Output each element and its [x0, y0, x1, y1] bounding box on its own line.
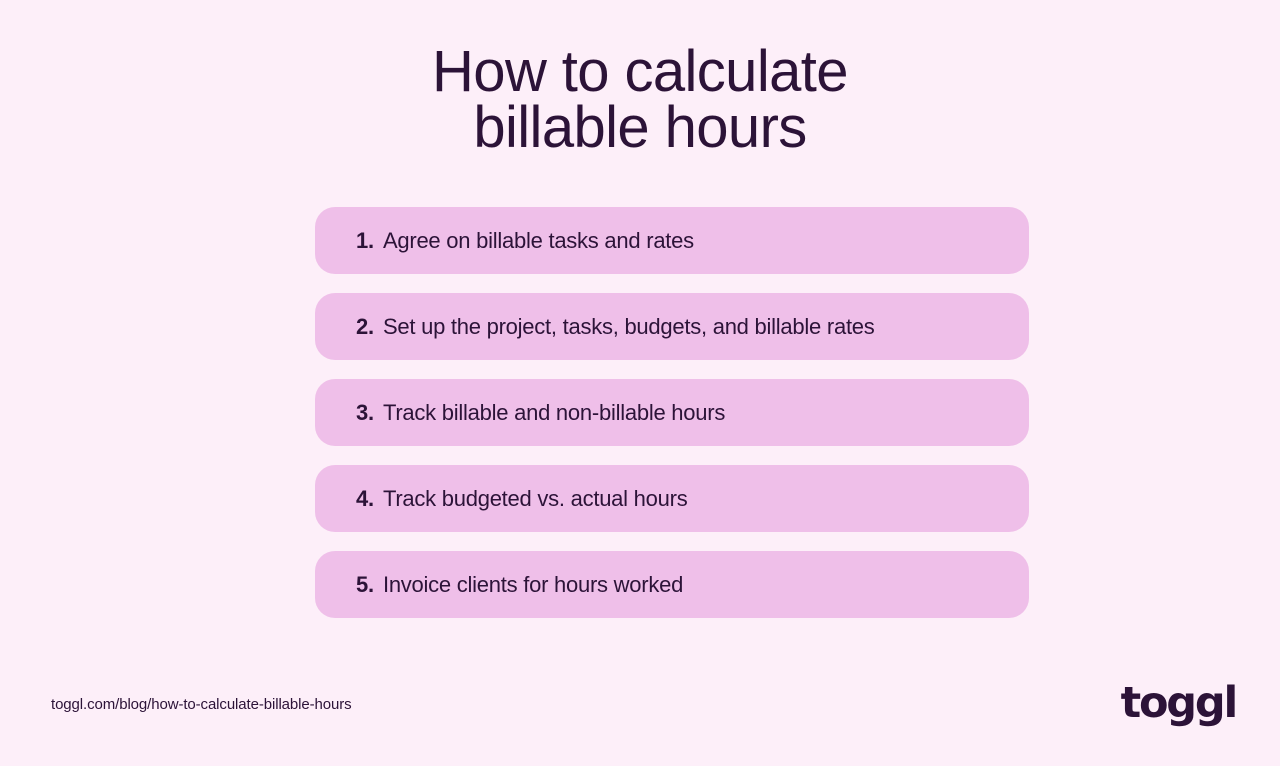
step-label: Track billable and non-billable hours [383, 400, 1005, 426]
step-item-2: 2. Set up the project, tasks, budgets, a… [315, 293, 1029, 360]
step-number: 5. [356, 572, 374, 598]
toggl-logo: toggl [1121, 680, 1236, 726]
step-item-4: 4. Track budgeted vs. actual hours [315, 465, 1029, 532]
page-title: How to calculate billable hours [0, 44, 1280, 156]
step-label: Invoice clients for hours worked [383, 572, 1005, 598]
steps-list: 1. Agree on billable tasks and rates 2. … [315, 207, 1029, 618]
step-item-1: 1. Agree on billable tasks and rates [315, 207, 1029, 274]
step-number: 1. [356, 228, 374, 254]
slide-root: How to calculate billable hours 1. Agree… [0, 0, 1280, 766]
step-label: Agree on billable tasks and rates [383, 228, 1005, 254]
step-item-3: 3. Track billable and non-billable hours [315, 379, 1029, 446]
title-block: How to calculate billable hours [0, 44, 1280, 156]
step-number: 3. [356, 400, 374, 426]
step-number: 2. [356, 314, 374, 340]
step-label: Track budgeted vs. actual hours [383, 486, 1005, 512]
step-item-5: 5. Invoice clients for hours worked [315, 551, 1029, 618]
footer: toggl.com/blog/how-to-calculate-billable… [0, 680, 1280, 766]
step-label: Set up the project, tasks, budgets, and … [383, 314, 1005, 340]
source-url: toggl.com/blog/how-to-calculate-billable… [51, 696, 352, 713]
step-number: 4. [356, 486, 374, 512]
